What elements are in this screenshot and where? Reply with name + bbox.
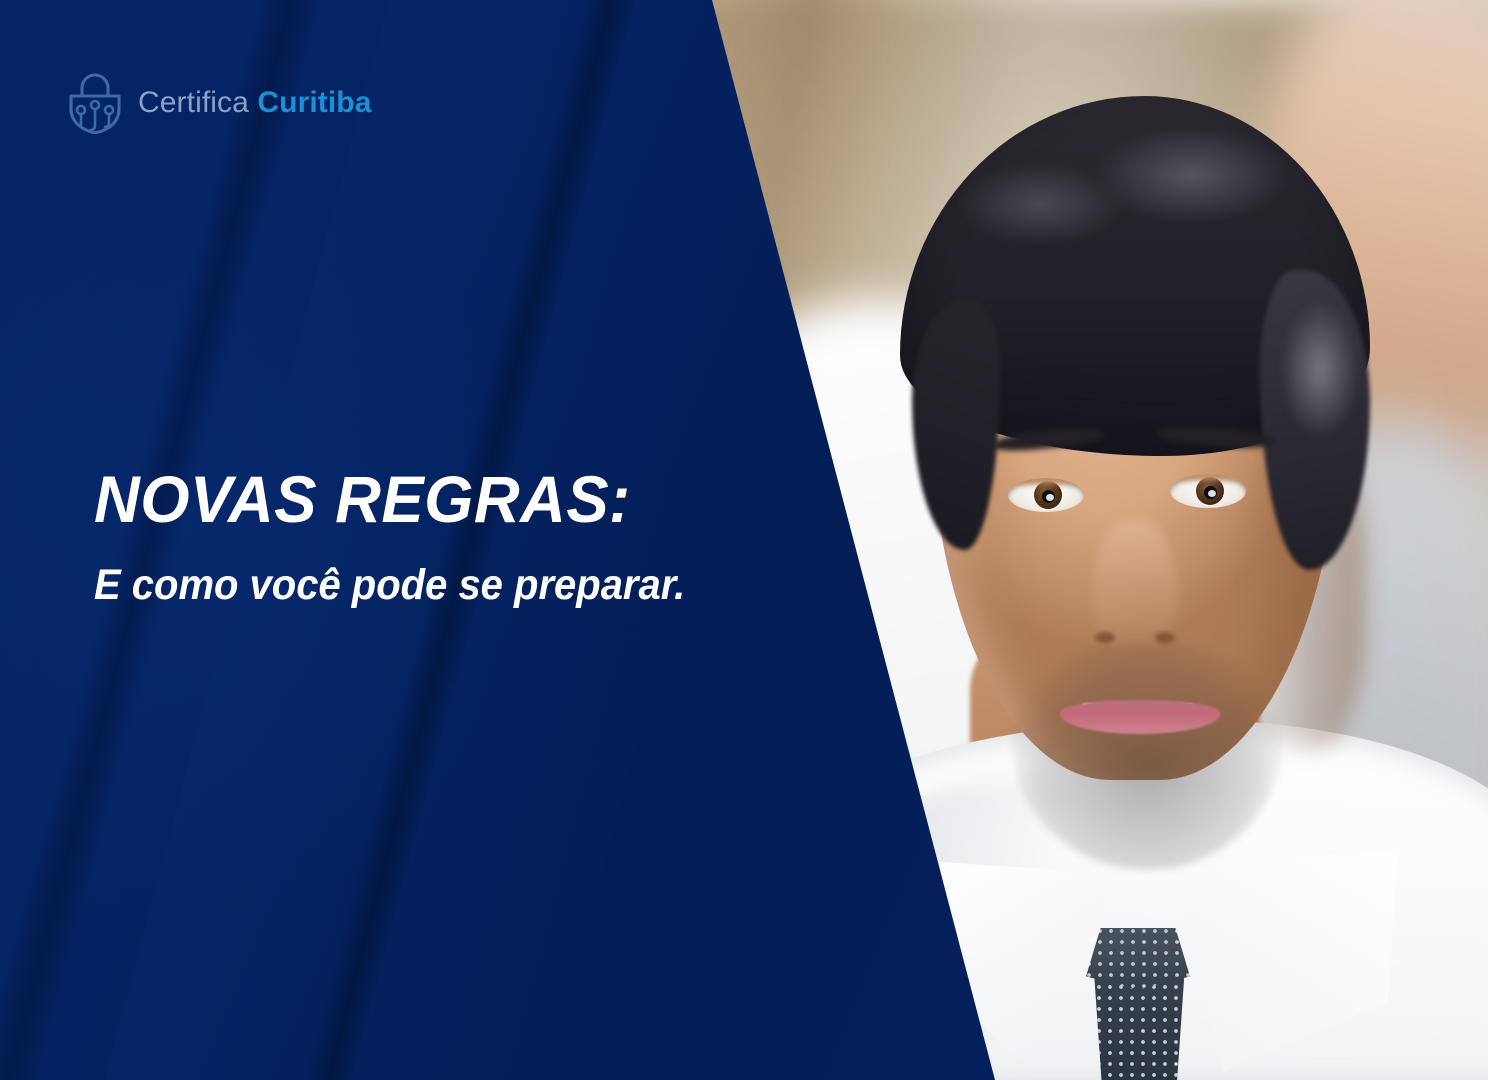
iris-left bbox=[1034, 481, 1062, 509]
eye-right bbox=[1170, 474, 1246, 508]
padlock-circuit-icon bbox=[66, 72, 124, 134]
brand-word-curitiba: Curitiba bbox=[257, 86, 371, 119]
brand-wordmark: Certifica Curitiba bbox=[138, 86, 372, 120]
pupil-left bbox=[1042, 490, 1055, 503]
pupil-right bbox=[1204, 486, 1217, 499]
headline-block: NOVAS REGRAS: E como você pode se prepar… bbox=[94, 466, 794, 608]
eyelid-right bbox=[1170, 474, 1246, 480]
eye-left bbox=[1008, 478, 1084, 512]
eyelid-left bbox=[1008, 478, 1084, 484]
hair-grey-highlight bbox=[1280, 300, 1360, 440]
eye-glint-left bbox=[1046, 494, 1054, 501]
brand-logo[interactable]: Certifica Curitiba bbox=[66, 72, 372, 134]
brand-word-certifica: Certifica bbox=[138, 86, 249, 119]
subheadline-text: E como você pode se preparar. bbox=[94, 563, 745, 608]
headline-text: NOVAS REGRAS: bbox=[94, 466, 766, 533]
eye-glint-right bbox=[1208, 490, 1216, 497]
promo-banner: Certifica Curitiba NOVAS REGRAS: E como … bbox=[0, 0, 1488, 1080]
iris-right bbox=[1196, 477, 1224, 505]
